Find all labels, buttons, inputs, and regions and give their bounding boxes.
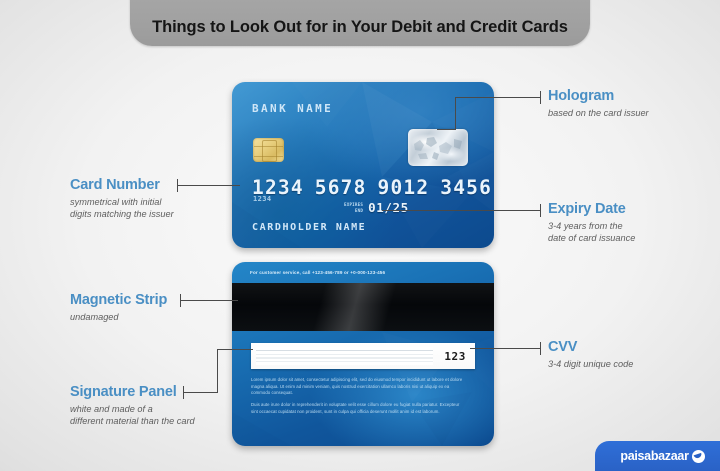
fineprint-paragraph-1: Lorem ipsum dolor sit amet, consectetur … <box>251 377 467 397</box>
connector-line-signature-h2 <box>183 392 217 393</box>
annotation-card-number-title: Card Number <box>70 178 190 194</box>
card-back: For customer service, call +123-456-789 … <box>232 262 494 446</box>
cardholder-name: CARDHOLDER NAME <box>252 222 366 233</box>
card-number: 1234567890123456 <box>252 176 492 199</box>
cvv-value: 123 <box>444 350 466 363</box>
expiry-block: EXPIRES END 01/25 <box>344 200 409 215</box>
annotation-card-number: Card Number symmetrical with initial dig… <box>70 178 190 221</box>
connector-line-hologram-v <box>455 97 456 129</box>
annotation-magnetic-strip-desc: undamaged <box>70 311 200 323</box>
annotation-cvv-desc-line1: 3-4 digit unique code <box>548 358 708 370</box>
annotation-magnetic-strip-desc-line1: undamaged <box>70 311 200 323</box>
magnetic-strip <box>232 283 494 331</box>
customer-service-text: For customer service, call +123-456-789 … <box>250 270 385 275</box>
annotation-expiry-date: Expiry Date 3-4 years from the date of c… <box>548 202 708 245</box>
annotation-hologram-title: Hologram <box>548 89 708 105</box>
annotation-card-number-desc-line2: digits matching the issuer <box>70 208 190 220</box>
paisabazaar-mark-icon <box>692 450 705 463</box>
annotation-expiry-date-desc-line1: 3-4 years from the <box>548 220 708 232</box>
card-number-group-2: 5678 <box>315 176 367 199</box>
back-fineprint: Lorem ipsum dolor sit amet, consectetur … <box>251 377 467 415</box>
card-number-embossed-repeat: 1234 <box>253 195 271 203</box>
annotation-cvv-title: CVV <box>548 340 708 356</box>
infographic-canvas: Things to Look Out for in Your Debit and… <box>0 0 720 471</box>
header-banner: Things to Look Out for in Your Debit and… <box>130 0 590 46</box>
card-number-group-3: 9012 <box>378 176 430 199</box>
fineprint-paragraph-2: Duis aute irure dolor in reprehenderit i… <box>251 402 467 415</box>
annotation-signature-panel-desc-line2: different material than the card <box>70 415 230 427</box>
brand-name: paisabazaar <box>620 449 688 463</box>
connector-line-signature-h1 <box>217 349 253 350</box>
page-title: Things to Look Out for in Your Debit and… <box>152 18 568 37</box>
annotation-expiry-date-desc: 3-4 years from the date of card issuance <box>548 220 708 245</box>
expires-label-line2: END <box>344 208 363 213</box>
annotation-cvv: CVV 3-4 digit unique code <box>548 340 708 370</box>
connector-line-expiry-date <box>382 210 541 211</box>
annotation-signature-panel-desc: white and made of a different material t… <box>70 403 230 428</box>
bank-name: BANK NAME <box>252 102 333 115</box>
card-number-group-4: 3456 <box>440 176 492 199</box>
annotation-cvv-desc: 3-4 digit unique code <box>548 358 708 370</box>
connector-line-cvv <box>470 348 541 349</box>
annotation-hologram: Hologram based on the card issuer <box>548 89 708 119</box>
annotation-signature-panel-desc-line1: white and made of a <box>70 403 230 415</box>
connector-line-hologram-h1 <box>455 97 541 98</box>
expires-label-line1: EXPIRES <box>344 202 363 207</box>
connector-line-hologram-h2 <box>437 129 456 130</box>
annotation-card-number-desc-line1: symmetrical with initial <box>70 196 190 208</box>
annotation-expiry-date-title: Expiry Date <box>548 202 708 218</box>
connector-line-magnetic-strip <box>180 300 238 301</box>
hologram-patch <box>408 129 468 166</box>
expires-end-label: EXPIRES END <box>344 202 363 213</box>
connector-line-signature-v <box>217 349 218 393</box>
emv-chip-icon <box>253 138 284 162</box>
expiry-value: 01/25 <box>368 200 409 215</box>
annotation-card-number-desc: symmetrical with initial digits matching… <box>70 196 190 221</box>
hologram-globe-icon <box>410 132 466 163</box>
annotation-hologram-desc-line1: based on the card issuer <box>548 107 708 119</box>
annotation-hologram-desc: based on the card issuer <box>548 107 708 119</box>
signature-ruled-lines <box>256 347 433 365</box>
paisabazaar-logo[interactable]: paisabazaar <box>595 441 720 471</box>
connector-line-card-number <box>177 185 240 186</box>
signature-panel: 123 <box>251 343 475 369</box>
annotation-expiry-date-desc-line2: date of card issuance <box>548 232 708 244</box>
